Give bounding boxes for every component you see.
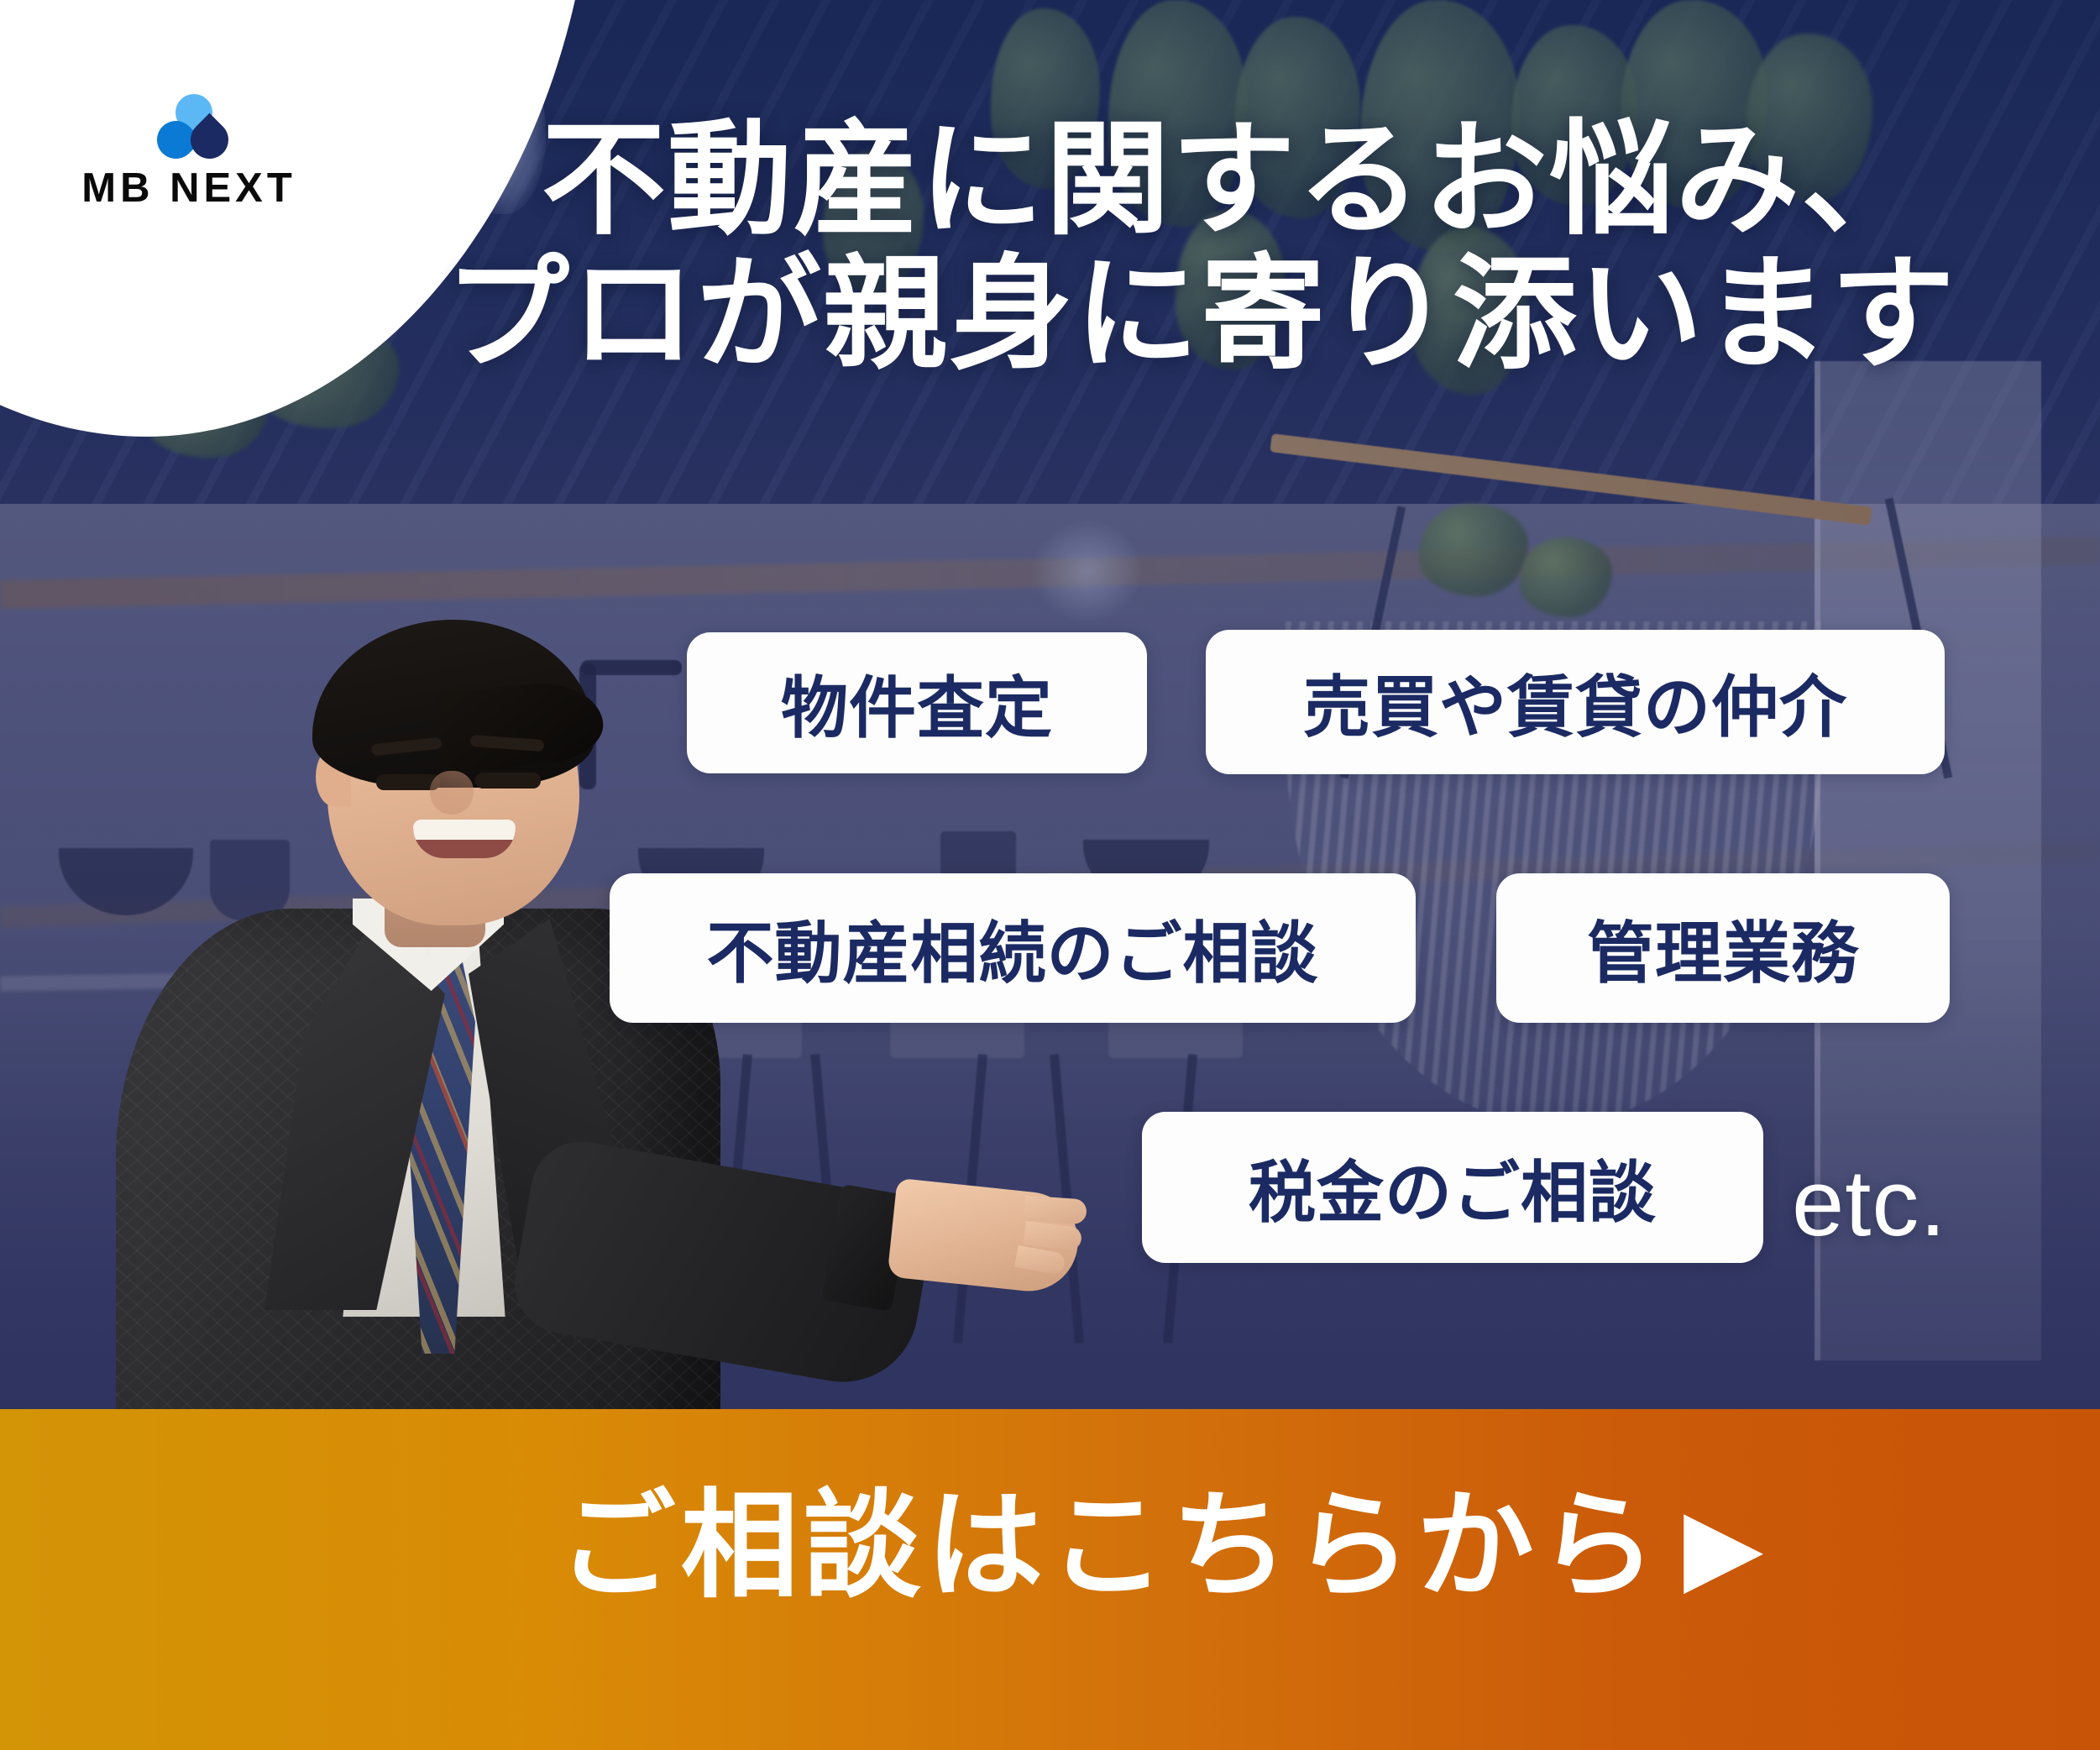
eye-right — [475, 773, 541, 789]
headline-line-1: 不動産に関するお悩み、 — [437, 113, 2032, 248]
cta-label-wrap[interactable]: ご相談はこちらから▶ — [0, 1488, 2100, 1606]
feature-pill-sale-rental-brokerage[interactable]: 売買や賃貸の仲介 — [1206, 630, 1945, 774]
feature-pill-management[interactable]: 管理業務 — [1496, 873, 1950, 1023]
play-triangle-icon: ▶ — [1684, 1494, 1768, 1598]
page-title: 不動産に関するお悩み、 プロが親身に寄り添います — [437, 113, 2032, 382]
nose — [430, 771, 474, 815]
brand-logo[interactable]: MB NEXT — [50, 71, 327, 231]
mouth — [413, 820, 516, 858]
hair — [312, 620, 594, 788]
cta-label: ご相談はこちらから — [558, 1478, 1662, 1615]
three-circles-logo-icon — [154, 94, 224, 160]
banner-root: MB NEXT 不動産に関するお悩み、 プロが親身に寄り添います 物件査定 売買… — [0, 0, 2100, 1750]
etc-label: etc. — [1792, 1149, 1947, 1257]
headline-line-2: プロが親身に寄り添います — [369, 248, 2032, 382]
feature-pill-tax-consult[interactable]: 税金のご相談 — [1142, 1112, 1763, 1263]
logo-wordmark: MB NEXT — [81, 168, 296, 209]
feature-pill-inheritance-consult[interactable]: 不動産相続のご相談 — [610, 873, 1416, 1023]
finger — [1024, 1195, 1087, 1224]
feature-pill-property-appraisal[interactable]: 物件査定 — [687, 632, 1147, 773]
teeth — [413, 820, 516, 840]
